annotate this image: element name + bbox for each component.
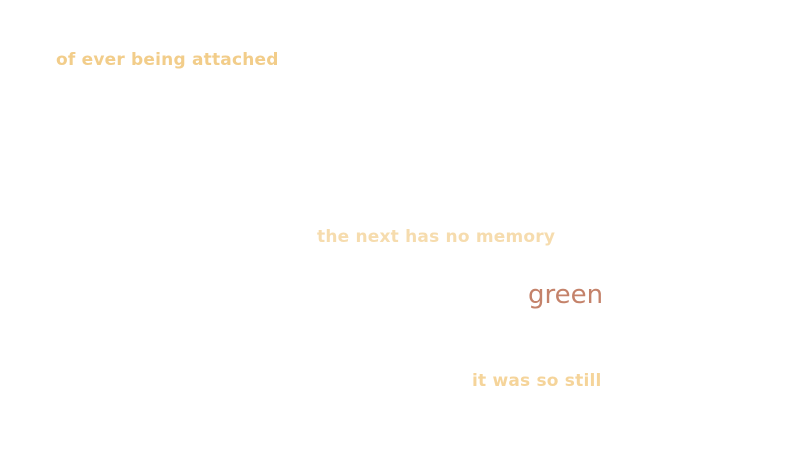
text-fragment-it-was-so-still: it was so still: [472, 373, 602, 390]
poem-canvas: of ever being attached the next has no m…: [0, 0, 800, 450]
text-fragment-of-ever-being-attached: of ever being attached: [56, 52, 279, 69]
text-fragment-green: green: [528, 282, 603, 308]
text-fragment-the-next-has-no-memory: the next has no memory: [317, 229, 555, 246]
